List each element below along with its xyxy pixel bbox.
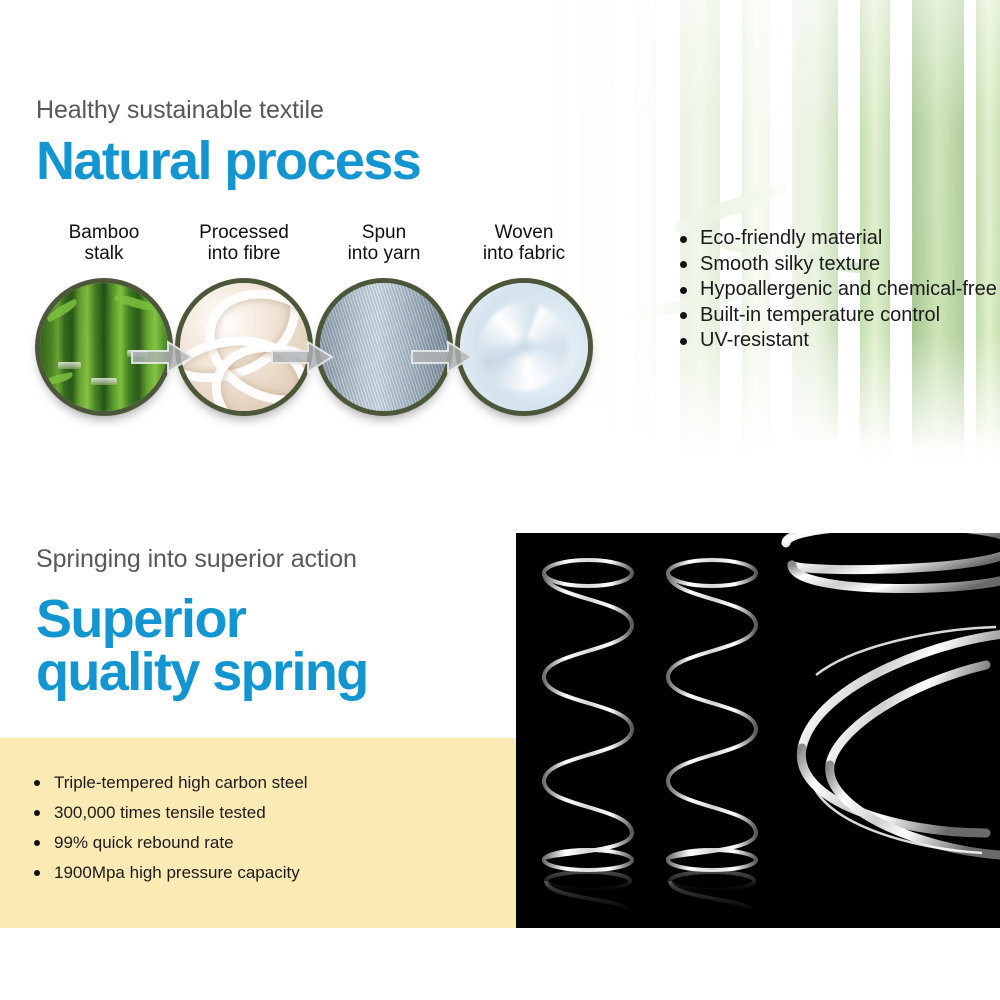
- process-step-spun-into-yarn: Spun into yarn: [304, 222, 464, 265]
- spring-feature-list: Triple-tempered high carbon steel 300,00…: [30, 768, 308, 888]
- step-label: Bamboo stalk: [24, 222, 184, 265]
- step-label: Woven into fabric: [444, 222, 604, 265]
- list-item: 1900Mpa high pressure capacity: [30, 858, 308, 888]
- natural-process-panel: Healthy sustainable textile Natural proc…: [0, 0, 1000, 462]
- list-item: Built-in temperature control: [676, 303, 997, 329]
- springs-art: [516, 533, 1000, 928]
- bottom-headline-line2: quality spring: [36, 645, 368, 699]
- list-item: 99% quick rebound rate: [30, 828, 308, 858]
- bottom-kicker: Springing into superior action: [36, 545, 357, 574]
- coil-springs-photo: [516, 533, 1000, 928]
- list-item: Smooth silky texture: [676, 252, 997, 278]
- process-step-processed-into-fibre: Processed into fibre: [164, 222, 324, 265]
- list-item: Hypoallergenic and chemical-free: [676, 277, 997, 303]
- step-label: Processed into fibre: [164, 222, 324, 265]
- list-item: UV-resistant: [676, 328, 997, 354]
- list-item: Eco-friendly material: [676, 226, 997, 252]
- step-label: Spun into yarn: [304, 222, 464, 265]
- process-step-woven-into-fabric: Woven into fabric: [444, 222, 604, 265]
- woven-fabric-photo: [455, 278, 593, 416]
- eco-feature-list: Eco-friendly material Smooth silky textu…: [676, 226, 997, 354]
- process-step-bamboo-stalk: Bamboo stalk: [24, 222, 184, 265]
- list-item: Triple-tempered high carbon steel: [30, 768, 308, 798]
- list-item: 300,000 times tensile tested: [30, 798, 308, 828]
- arrow-right-icon: [410, 340, 474, 374]
- arrow-right-icon: [270, 340, 334, 374]
- top-headline: Natural process: [36, 134, 420, 188]
- process-steps: Bamboo stalk Processed into fibre: [24, 222, 644, 462]
- bottom-headline-line1: Superior: [36, 592, 245, 646]
- arrow-right-icon: [130, 340, 194, 374]
- top-kicker: Healthy sustainable textile: [36, 96, 324, 125]
